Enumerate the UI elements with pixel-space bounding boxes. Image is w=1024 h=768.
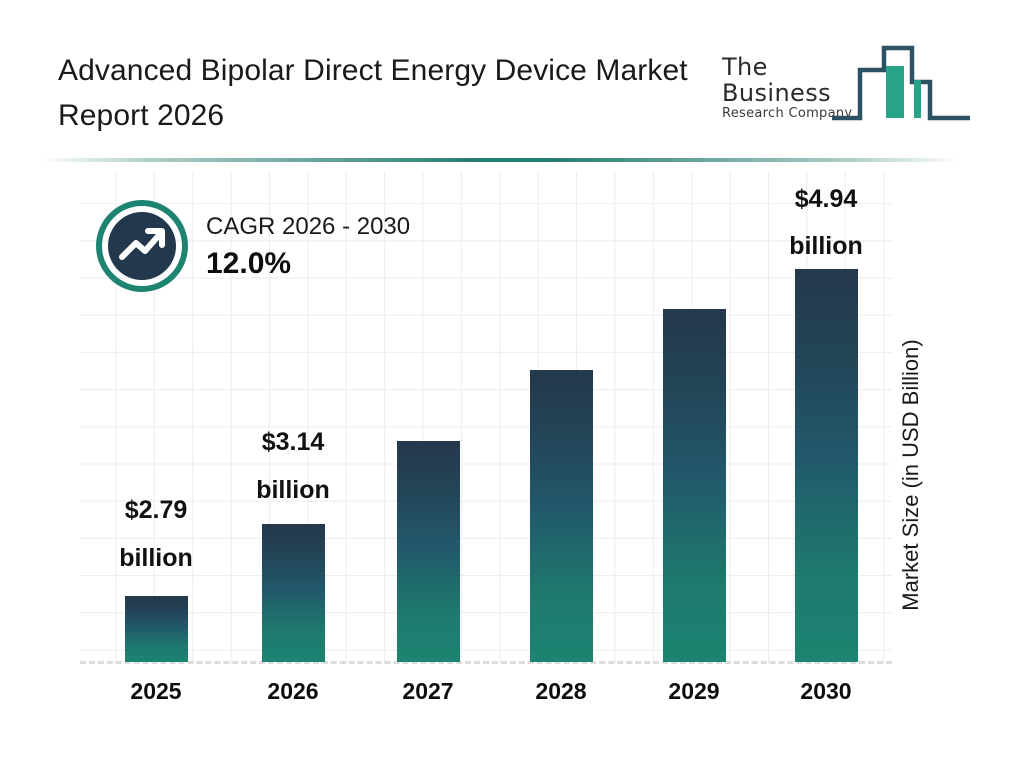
- bar-label-2025-line2: billion: [81, 543, 231, 573]
- bar-2027[interactable]: [397, 441, 460, 662]
- cagr-badge: CAGR 2026 - 2030 12.0%: [96, 200, 496, 310]
- cagr-period-label: CAGR 2026 - 2030: [206, 210, 410, 244]
- bar-2029[interactable]: [663, 309, 726, 662]
- chart-bars: [0, 0, 1024, 768]
- x-axis-tick-labels: 2025 2026 2027 2028 2029 2030: [0, 678, 1024, 712]
- x-tick-2026: 2026: [233, 678, 353, 705]
- cagr-text-block: CAGR 2026 - 2030 12.0%: [206, 210, 410, 284]
- bar-label-2026-line2: billion: [218, 475, 368, 505]
- y-axis-title: Market Size (in USD Billion): [898, 0, 932, 280]
- bar-2025[interactable]: [125, 596, 188, 662]
- bar-2030[interactable]: [795, 269, 858, 662]
- bar-label-2030-line2: billion: [751, 231, 901, 261]
- chart-page: Advanced Bipolar Direct Energy Device Ma…: [0, 0, 1024, 768]
- x-tick-2028: 2028: [501, 678, 621, 705]
- x-tick-2025: 2025: [96, 678, 216, 705]
- y-axis-title-text: Market Size (in USD Billion): [898, 280, 924, 670]
- bar-label-2030-line1: $4.94: [751, 184, 901, 214]
- bar-2028[interactable]: [530, 370, 593, 662]
- cagr-value: 12.0%: [206, 244, 410, 284]
- bar-label-2025-line1: $2.79: [81, 495, 231, 525]
- trending-up-icon: [96, 200, 188, 292]
- bar-label-2026-line1: $3.14: [218, 427, 368, 457]
- x-tick-2030: 2030: [766, 678, 886, 705]
- x-tick-2027: 2027: [368, 678, 488, 705]
- bar-2026[interactable]: [262, 524, 325, 662]
- x-tick-2029: 2029: [634, 678, 754, 705]
